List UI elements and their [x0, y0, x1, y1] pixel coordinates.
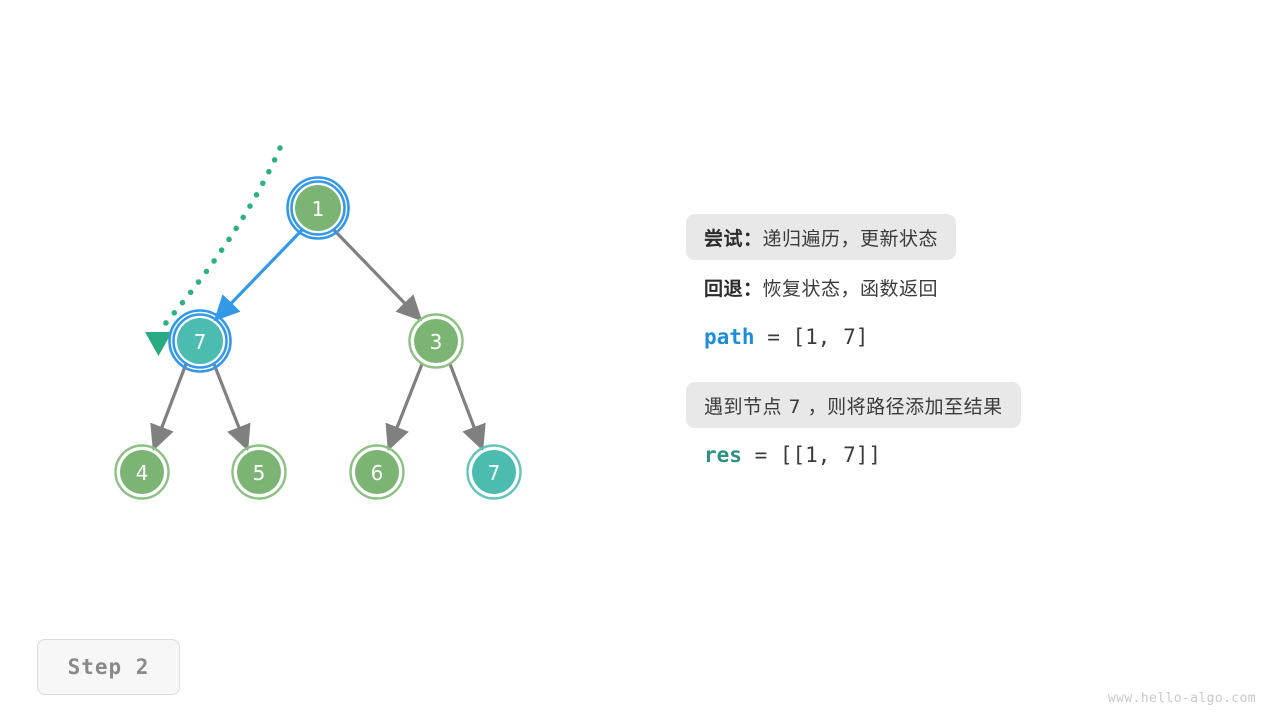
diagram-canvas: 1 7 3 4: [0, 0, 1280, 720]
tree-node-1[interactable]: 1: [288, 178, 349, 239]
tree-node-7-left[interactable]: 7: [170, 311, 231, 372]
res-value: = [[1, 7]]: [742, 443, 881, 467]
tree-node-3[interactable]: 3: [410, 315, 463, 368]
node-label: 7: [488, 461, 501, 485]
path-value: = [1, 7]: [755, 325, 869, 349]
backtrack-row: 回退： 恢复状态，函数返回: [686, 264, 956, 310]
res-variable-name: res: [704, 443, 742, 467]
watermark: www.hello-algo.com: [1108, 691, 1256, 706]
found-chip: 遇到节点 7 ，则将路径添加至结果: [686, 382, 1021, 428]
edge-7-to-4: [154, 364, 186, 448]
node-label: 5: [253, 461, 266, 485]
edge-1-to-3: [334, 230, 420, 319]
node-label: 7: [194, 330, 207, 354]
explanation-line-backtrack: 回退： 恢复状态，函数返回: [686, 264, 1206, 310]
tree-node-4[interactable]: 4: [116, 446, 169, 499]
explanation-panel: 尝试： 递归遍历，更新状态 回退： 恢复状态，函数返回 path = [1, 7…: [686, 214, 1206, 482]
try-chip: 尝试： 递归遍历，更新状态: [686, 214, 956, 260]
backtrack-label: 回退：: [704, 274, 763, 301]
explanation-line-try: 尝试： 递归遍历，更新状态: [686, 214, 1206, 260]
step-badge: Step 2: [37, 639, 180, 695]
tree-nodes: 1 7 3 4: [116, 178, 521, 499]
explanation-line-path: path = [1, 7]: [686, 314, 1206, 360]
node-label: 3: [430, 330, 443, 354]
dotted-path-line: [160, 148, 280, 330]
try-label: 尝试：: [704, 224, 763, 251]
explanation-line-found: 遇到节点 7 ，则将路径添加至结果: [686, 382, 1206, 428]
explanation-line-res: res = [[1, 7]]: [686, 432, 1206, 478]
found-text: 遇到节点 7 ，则将路径添加至结果: [704, 392, 1003, 419]
edge-3-to-6: [389, 364, 422, 448]
tree-node-7-right[interactable]: 7: [468, 446, 521, 499]
backtrack-text: 恢复状态，函数返回: [763, 274, 939, 301]
panel-spacer: [686, 364, 1206, 382]
traversal-arrowhead-icon: [145, 332, 172, 356]
edge-1-to-7: [216, 230, 302, 319]
tree-node-5[interactable]: 5: [233, 446, 286, 499]
node-label: 4: [136, 461, 149, 485]
edge-7-to-5: [214, 364, 247, 448]
res-row: res = [[1, 7]]: [686, 432, 899, 478]
try-text: 递归遍历，更新状态: [763, 224, 939, 251]
path-variable-name: path: [704, 325, 755, 349]
node-label: 6: [371, 461, 384, 485]
edge-3-to-7: [450, 364, 482, 448]
node-label: 1: [312, 197, 325, 221]
path-row: path = [1, 7]: [686, 314, 886, 360]
step-badge-label: Step 2: [68, 655, 150, 679]
tree-node-6[interactable]: 6: [351, 446, 404, 499]
